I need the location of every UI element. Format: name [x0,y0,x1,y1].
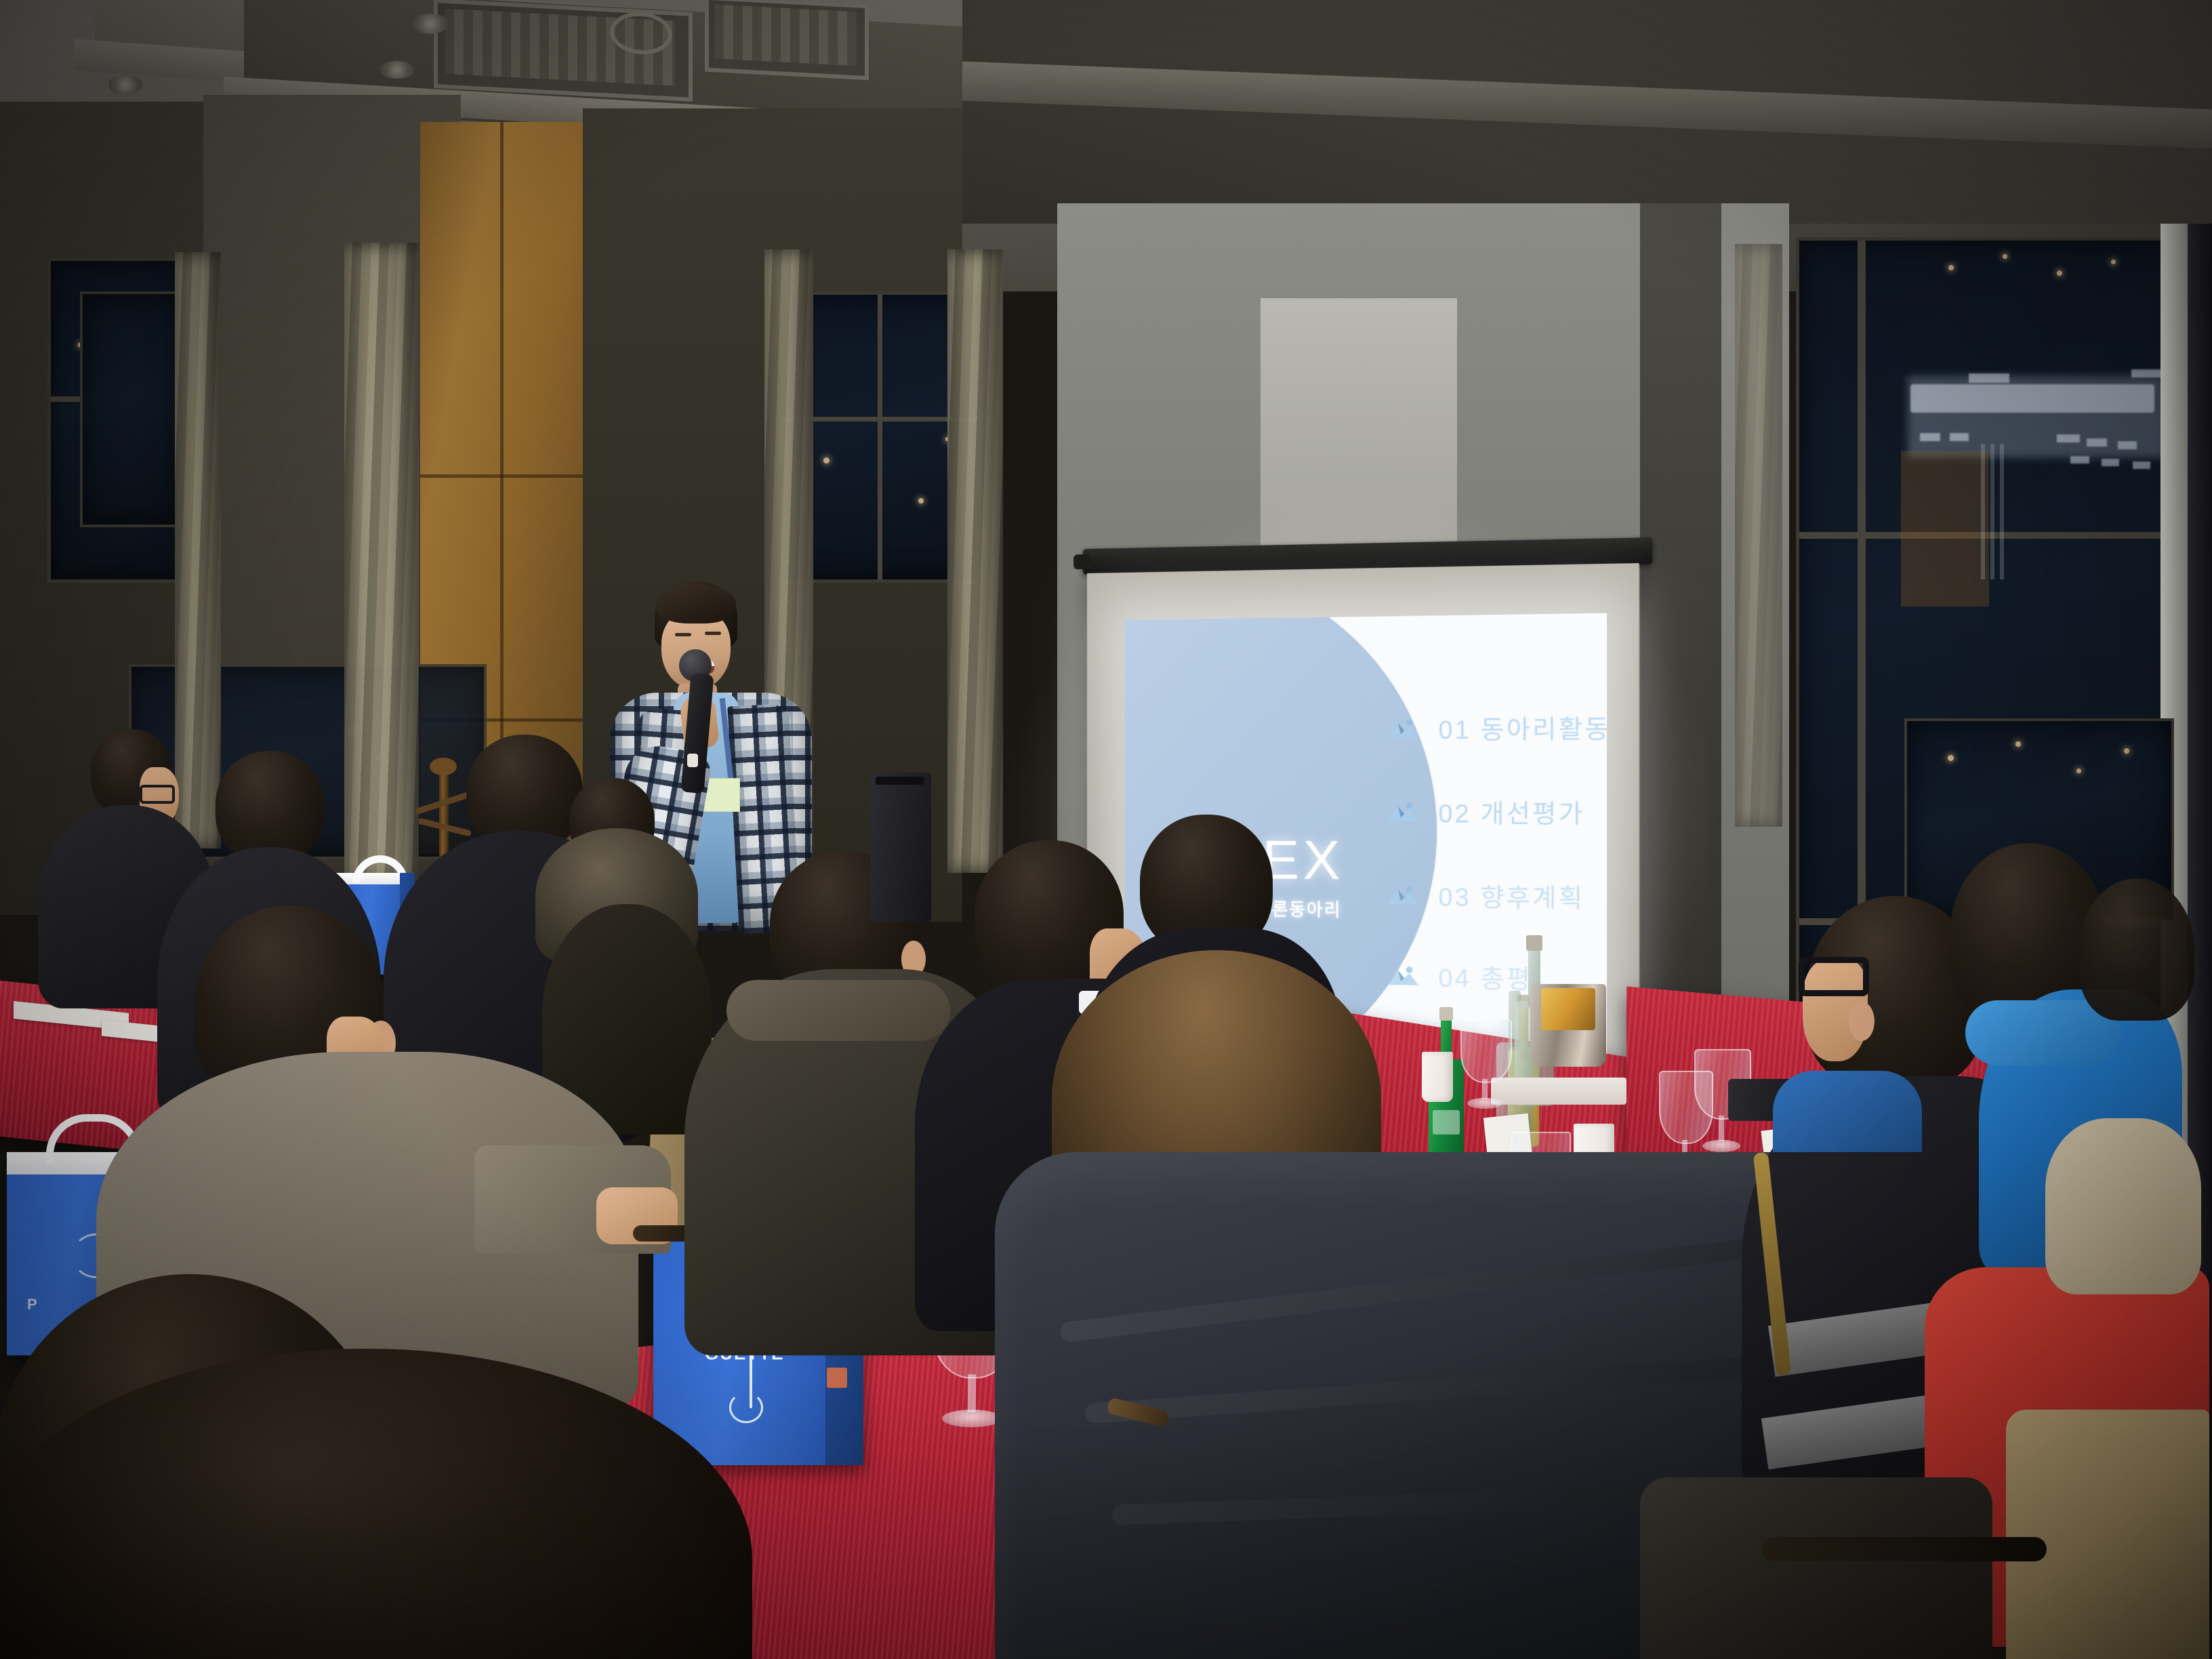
mountain-icon [1386,800,1420,824]
slide-index-label-2: 02 개선평가 [1438,794,1584,830]
screen-roller-cap [1073,554,1091,569]
curtain-far-left [175,252,221,848]
bag-brand-text: P [27,1296,39,1313]
slide-index-item-2: 02 개선평가 [1386,794,1584,830]
presenter-eye-left [675,633,691,636]
presenter-eye-right [705,632,721,635]
slide-index-label-1: 01 동아리활동 [1438,709,1607,746]
wine-glass [1460,1019,1509,1114]
microphone-indicator [687,754,698,767]
ceiling-ac-cassette-2 [705,0,869,80]
downlight-icon [412,14,449,34]
window-left-inner [80,291,180,527]
slide-index-label-3: 03 향후계획 [1438,878,1584,915]
coat-rack-top [430,758,457,775]
coat-collar [726,980,950,1041]
mountain-icon [1386,717,1420,741]
mountain-icon [1386,884,1420,907]
bucket-contents [1541,988,1595,1030]
chair-back [2006,1410,2209,1659]
mountain-icon [1386,964,1420,988]
slide-index-item-3: 03 향후계획 [1386,877,1584,915]
beige-bag [2045,1118,2201,1294]
presenter-hair-fringe [656,584,736,623]
downlight-icon [380,61,415,79]
wall-panel-light [1261,298,1457,583]
audience-head [216,751,324,862]
jeans-lap [1640,1477,1992,1659]
curtain-center-right [947,249,1003,873]
audience-head-rear [2079,878,2194,1021]
curtain-left [344,243,419,914]
downlight-icon [108,75,142,95]
belt [1762,1537,2047,1561]
slide-index-item-1: 01 동아리활동 [1386,709,1607,747]
blue-collar [1773,1071,1922,1152]
bag-orange-detail [827,1368,847,1388]
curtain-right [1735,244,1782,827]
glasses-icon [140,785,175,804]
luggage-handle-bar [876,777,924,785]
glasses-icon [1799,957,1869,996]
photo-scene: INDEX 99분 토론동아리 01 동아리활동 [0,0,2212,1659]
ear [1849,1002,1875,1041]
paper-cup [1422,1052,1453,1102]
table-riser [1491,1078,1626,1105]
luggage-handle [870,773,931,922]
